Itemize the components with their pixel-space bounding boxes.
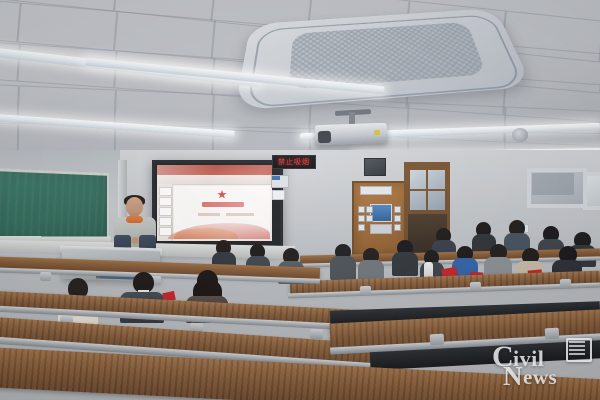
photo-scene: 禁止吸烟 [0, 0, 600, 400]
student-mid-cap [330, 244, 356, 278]
window-shade [532, 173, 574, 195]
cabinet-button[interactable] [366, 215, 373, 222]
cabinet-button[interactable] [358, 215, 365, 222]
desk-rail-clip [430, 334, 445, 346]
watermark-line2-cap: N [503, 363, 523, 390]
cabinet-button[interactable] [394, 215, 401, 222]
cabinet-top-panel [360, 186, 392, 195]
wall-window-2 [583, 172, 600, 210]
desk-rail-clip [310, 329, 324, 340]
watermark: C ivil N ews [492, 336, 596, 394]
ceiling-speaker [512, 128, 528, 142]
cabinet-touch-screen[interactable] [370, 204, 392, 222]
led-wall-sign: 禁止吸烟 [272, 155, 316, 169]
projector-indicator-light [374, 130, 380, 135]
projector-lens-icon [318, 131, 331, 143]
door-mullion-vertical [426, 170, 428, 210]
desk-rail-clip [40, 272, 51, 281]
wall-panel-indicator [272, 176, 280, 180]
presenter-collar [126, 216, 143, 223]
presenter-hand [131, 237, 139, 244]
desk-rail-clip [470, 282, 481, 291]
cabinet-button[interactable] [358, 206, 365, 213]
desk-rail-clip [360, 286, 371, 295]
student-mid-dark [392, 240, 418, 274]
student-mid-grey [358, 248, 384, 282]
led-sign-text: 禁止吸烟 [278, 157, 310, 167]
chalkboard-texture [0, 168, 107, 240]
watermark-line2-rest: ews [523, 367, 557, 388]
cabinet-button[interactable] [358, 224, 365, 231]
cabinet-button[interactable] [366, 206, 373, 213]
wall-speaker [364, 158, 386, 176]
newspaper-icon-lines [569, 341, 585, 355]
cabinet-button[interactable] [394, 206, 401, 213]
wall-notice-plate [272, 190, 285, 200]
screen-glare [157, 165, 272, 241]
cabinet-label-plate [370, 224, 392, 234]
desk-rail-clip [560, 279, 571, 288]
projection-screen [157, 165, 272, 241]
cabinet-button[interactable] [394, 224, 401, 231]
